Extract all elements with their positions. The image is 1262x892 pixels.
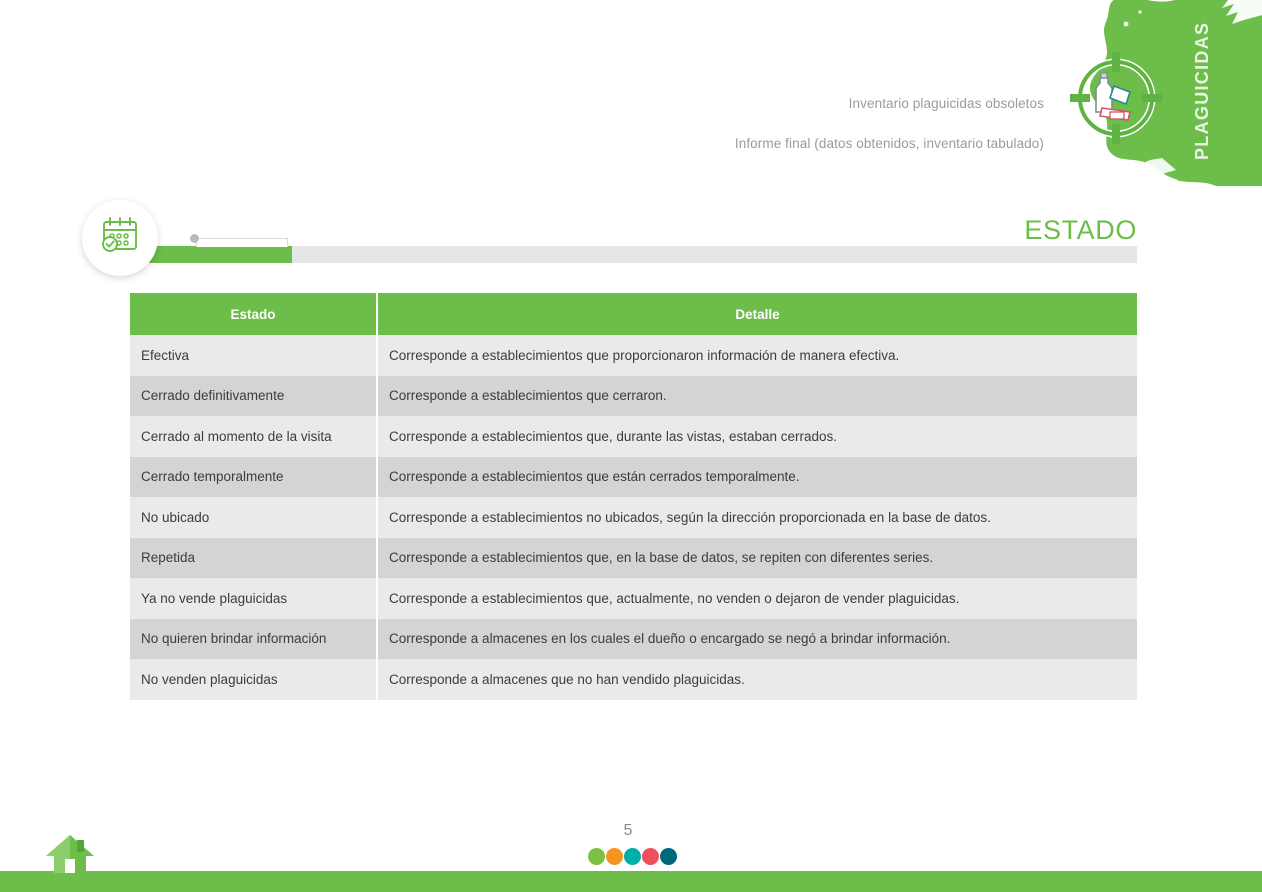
section-badge bbox=[82, 200, 158, 276]
page-header: Inventario plaguicidas obsoletos Informe… bbox=[0, 0, 1262, 190]
column-header-detalle: Detalle bbox=[377, 293, 1137, 335]
cell-estado: No venden plaguicidas bbox=[130, 659, 377, 700]
table-header-row: Estado Detalle bbox=[130, 293, 1137, 335]
estado-table: Estado Detalle EfectivaCorresponde a est… bbox=[130, 293, 1137, 700]
table-row: No venden plaguicidasCorresponde a almac… bbox=[130, 659, 1137, 700]
cell-estado: Repetida bbox=[130, 538, 377, 579]
cell-detalle: Corresponde a almacenes que no han vendi… bbox=[377, 659, 1137, 700]
section-progress-track bbox=[145, 246, 1137, 263]
table-row: No quieren brindar informaciónCorrespond… bbox=[130, 619, 1137, 660]
page-dot-indicator bbox=[588, 848, 677, 865]
section-progress-fill bbox=[145, 246, 292, 263]
cell-detalle: Corresponde a establecimientos que cerra… bbox=[377, 376, 1137, 417]
column-header-estado: Estado bbox=[130, 293, 377, 335]
table-row: Ya no vende plaguicidasCorresponde a est… bbox=[130, 578, 1137, 619]
header-subtitle: Inventario plaguicidas obsoletos Informe… bbox=[600, 74, 1044, 174]
cell-estado: Efectiva bbox=[130, 335, 377, 376]
table-row: EfectivaCorresponde a establecimientos q… bbox=[130, 335, 1137, 376]
dot-coral[interactable] bbox=[642, 848, 659, 865]
page-number: 5 bbox=[596, 822, 660, 840]
cell-estado: Cerrado temporalmente bbox=[130, 457, 377, 498]
header-subtitle-line-1: Inventario plaguicidas obsoletos bbox=[600, 94, 1044, 114]
cell-detalle: Corresponde a establecimientos que, dura… bbox=[377, 416, 1137, 457]
cell-detalle: Corresponde a establecimientos que están… bbox=[377, 457, 1137, 498]
cell-estado: No quieren brindar información bbox=[130, 619, 377, 660]
cell-detalle: Corresponde a almacenes en los cuales el… bbox=[377, 619, 1137, 660]
cell-estado: Ya no vende plaguicidas bbox=[130, 578, 377, 619]
table-row: Cerrado temporalmenteCorresponde a estab… bbox=[130, 457, 1137, 498]
dot-green[interactable] bbox=[588, 848, 605, 865]
home-icon[interactable] bbox=[44, 833, 96, 875]
page-title: ESTADO bbox=[1024, 215, 1137, 246]
dot-dark-teal[interactable] bbox=[660, 848, 677, 865]
pesticide-target-icon bbox=[1068, 50, 1164, 146]
table-row: Cerrado definitivamenteCorresponde a est… bbox=[130, 376, 1137, 417]
progress-connector-line bbox=[196, 238, 288, 247]
cell-detalle: Corresponde a establecimientos no ubicad… bbox=[377, 497, 1137, 538]
footer-bar bbox=[0, 871, 1262, 892]
cell-estado: Cerrado definitivamente bbox=[130, 376, 377, 417]
cell-detalle: Corresponde a establecimientos que, actu… bbox=[377, 578, 1137, 619]
table-row: Cerrado al momento de la visitaCorrespon… bbox=[130, 416, 1137, 457]
cell-estado: No ubicado bbox=[130, 497, 377, 538]
progress-connector-dot bbox=[190, 234, 199, 243]
table-row: RepetidaCorresponde a establecimientos q… bbox=[130, 538, 1137, 579]
brand-label-text: PLAGUICIDAS bbox=[1192, 22, 1213, 160]
calendar-check-icon bbox=[98, 214, 142, 263]
cell-detalle: Corresponde a establecimientos que, en l… bbox=[377, 538, 1137, 579]
cell-estado: Cerrado al momento de la visita bbox=[130, 416, 377, 457]
dot-orange[interactable] bbox=[606, 848, 623, 865]
dot-cyan[interactable] bbox=[624, 848, 641, 865]
cell-detalle: Corresponde a establecimientos que propo… bbox=[377, 335, 1137, 376]
header-subtitle-line-2: Informe final (datos obtenidos, inventar… bbox=[600, 134, 1044, 154]
table-row: No ubicadoCorresponde a establecimientos… bbox=[130, 497, 1137, 538]
